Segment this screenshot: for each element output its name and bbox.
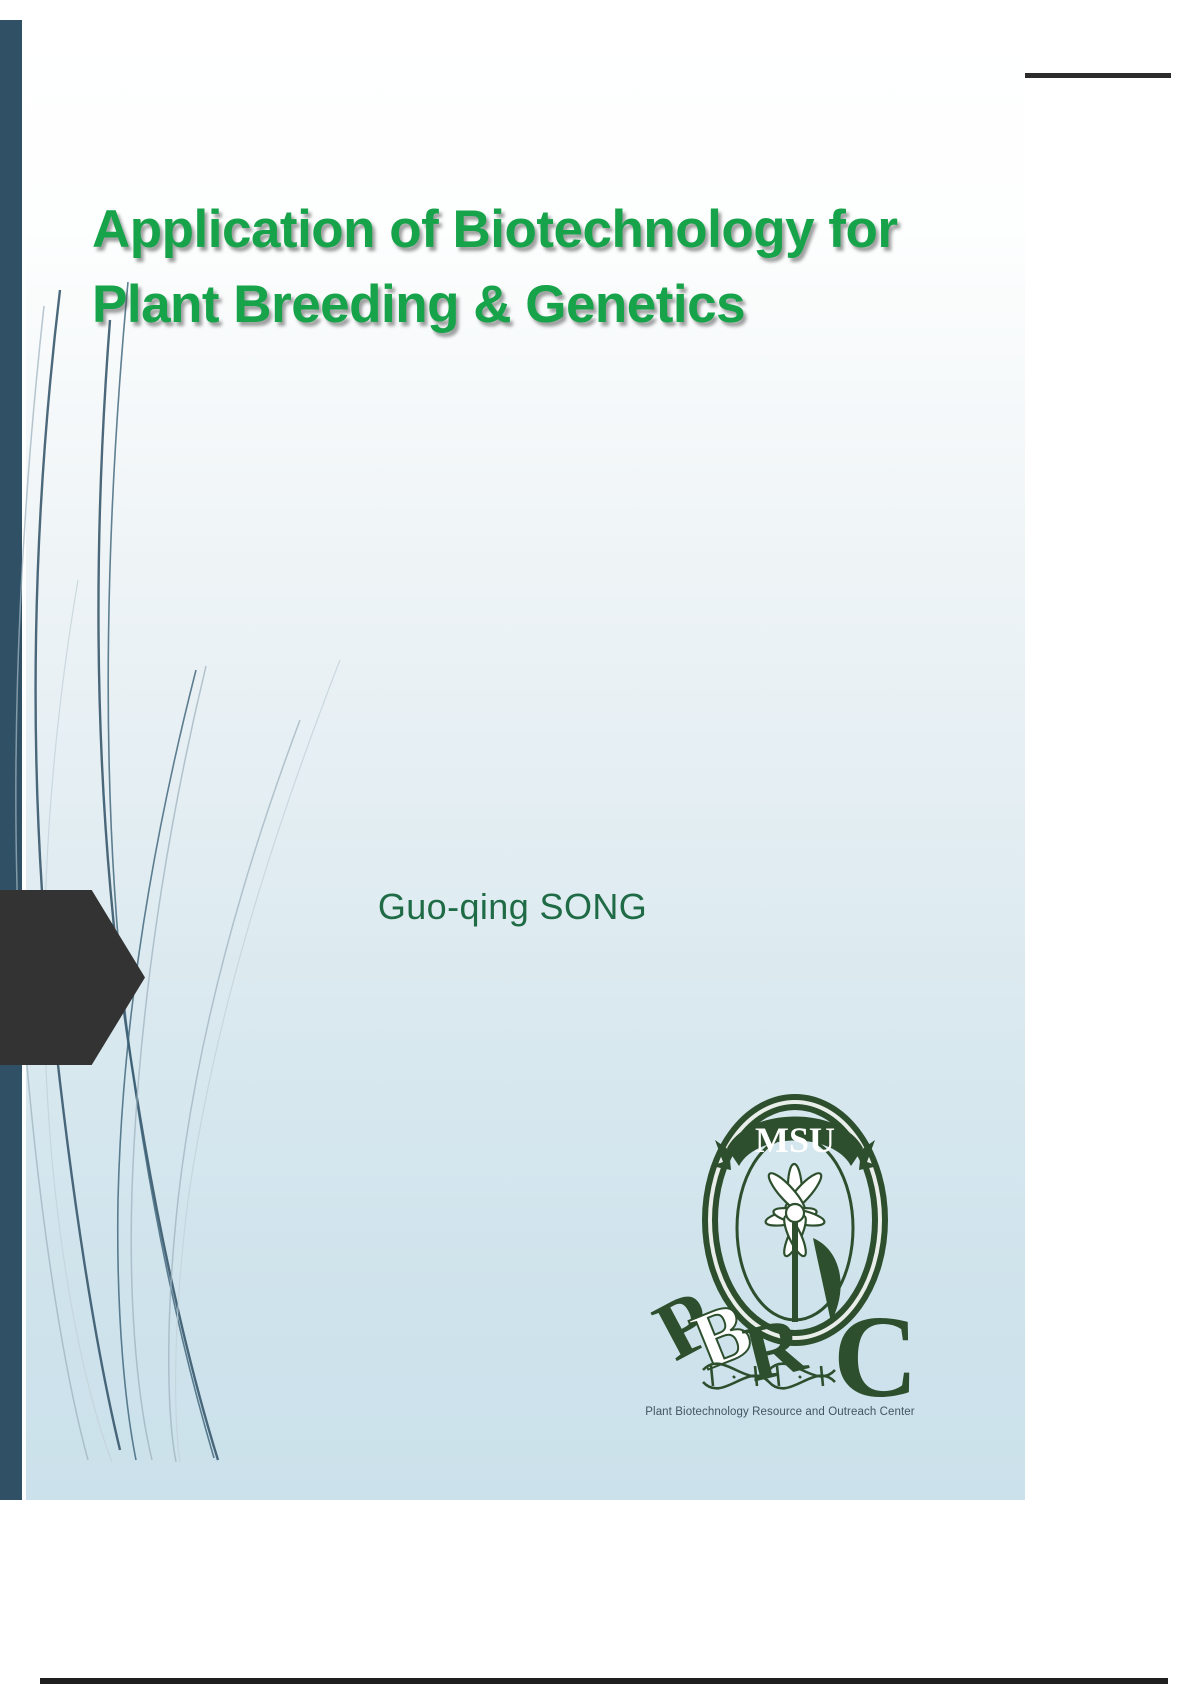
pbroc-logo: MSU P B R C xyxy=(645,1070,915,1410)
presentation-title-slide: Application of Biotechnology for Plant B… xyxy=(0,20,1025,1500)
logo-letter-r: R xyxy=(736,1300,815,1400)
slide-author-name: Guo-qing SONG xyxy=(0,886,1025,928)
logo-msu-text: MSU xyxy=(755,1120,835,1160)
slide-title: Application of Biotechnology for Plant B… xyxy=(92,192,912,343)
bottom-horizontal-rule xyxy=(40,1678,1168,1684)
document-page: Application of Biotechnology for Plant B… xyxy=(0,0,1200,1700)
top-horizontal-rule xyxy=(1025,73,1171,78)
logo-caption: Plant Biotechnology Resource and Outreac… xyxy=(620,1406,940,1418)
title-line-1: Application of Biotechnology for xyxy=(92,192,912,267)
logo-letter-c: C xyxy=(833,1291,915,1410)
title-line-2: Plant Breeding & Genetics xyxy=(92,267,912,342)
